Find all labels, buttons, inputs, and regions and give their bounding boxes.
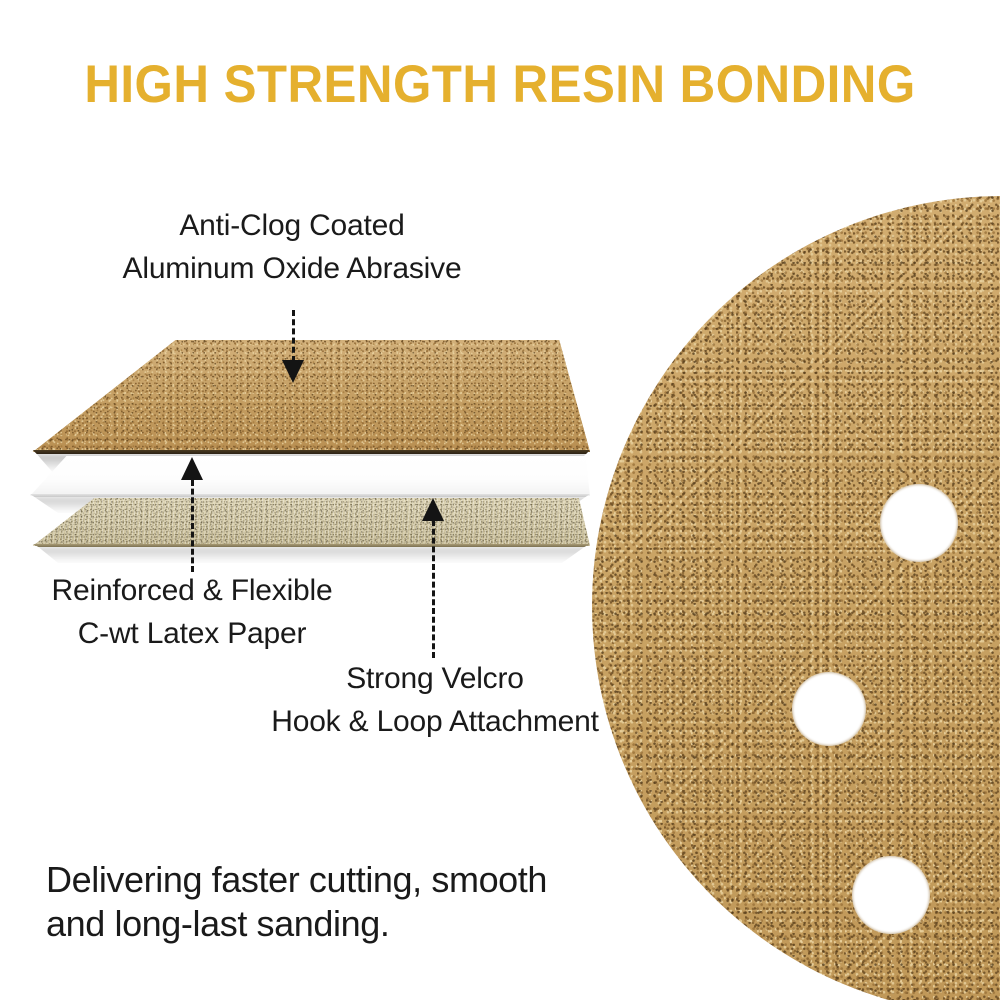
callout-label-paper-line2: C-wt Latex Paper: [0, 613, 384, 656]
callout-label-paper: Reinforced & Flexible C-wt Latex Paper: [0, 570, 384, 655]
velcro-hook-loop-layer: [30, 498, 590, 546]
callout-label-abrasive-line2: Aluminum Oxide Abrasive: [42, 248, 542, 291]
latex-paper-layer: [30, 456, 590, 496]
arrow-up-icon: [181, 457, 203, 480]
sanding-disc-hole: [792, 672, 866, 746]
bottom-caption-line2: and long-last sanding.: [46, 902, 646, 946]
sanding-disc-surface: [592, 196, 1000, 1000]
latex-paper-layer-edge: [30, 494, 590, 497]
sanding-disc-image: [592, 196, 1000, 1000]
bottom-caption: Delivering faster cutting, smooth and lo…: [46, 858, 646, 946]
sanding-disc-hole: [852, 856, 930, 934]
abrasive-grit-layer-edge: [30, 450, 590, 454]
arrow-down-icon: [282, 360, 304, 383]
callout-leader-line-velcro: [432, 520, 435, 658]
bottom-caption-line1: Delivering faster cutting, smooth: [46, 858, 646, 902]
velcro-hook-loop-layer-shadow: [30, 547, 590, 563]
sanding-disc-hole: [880, 484, 958, 562]
callout-label-abrasive: Anti-Clog Coated Aluminum Oxide Abrasive: [42, 205, 542, 290]
callout-leader-line-abrasive: [292, 310, 295, 362]
infographic-page: HIGH STRENGTH RESIN BONDING Anti-Clog Co…: [0, 0, 1000, 1000]
callout-label-abrasive-line1: Anti-Clog Coated: [42, 205, 542, 248]
velcro-hook-loop-layer-edge: [30, 544, 590, 547]
page-title: HIGH STRENGTH RESIN BONDING: [35, 54, 965, 115]
abrasive-grit-layer: [30, 340, 590, 452]
layer-stack-diagram: [30, 330, 590, 545]
arrow-up-icon: [422, 498, 444, 521]
callout-label-paper-line1: Reinforced & Flexible: [0, 570, 384, 613]
callout-leader-line-paper: [191, 480, 194, 572]
